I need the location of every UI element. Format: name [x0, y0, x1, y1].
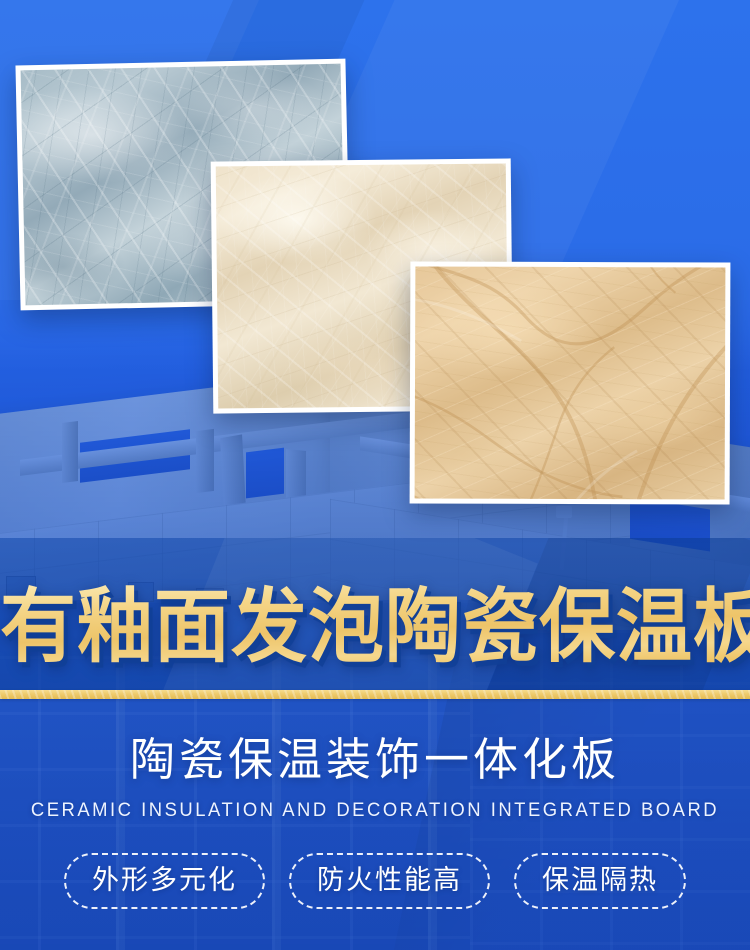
subtitle-chinese: 陶瓷保温装饰一体化板 — [0, 732, 750, 788]
feature-pill-2[interactable]: 防火性能高 — [289, 853, 490, 909]
feature-pill-3[interactable]: 保温隔热 — [514, 853, 686, 909]
product-promo-banner: 有釉面发泡陶瓷保温板 陶瓷保温装饰一体化板 CERAMIC INSULATION… — [0, 0, 750, 950]
feature-pill-list: 外形多元化 防火性能高 保温隔热 — [0, 853, 750, 909]
gold-divider — [0, 690, 750, 699]
subtitle-english: CERAMIC INSULATION AND DECORATION INTEGR… — [11, 798, 739, 824]
product-sample-tile-3[interactable] — [410, 261, 731, 504]
golden-tan-marble-texture — [415, 266, 726, 499]
marble-vein-lines — [415, 266, 726, 499]
page-title: 有釉面发泡陶瓷保温板 — [0, 582, 750, 671]
feature-pill-1[interactable]: 外形多元化 — [64, 853, 265, 909]
